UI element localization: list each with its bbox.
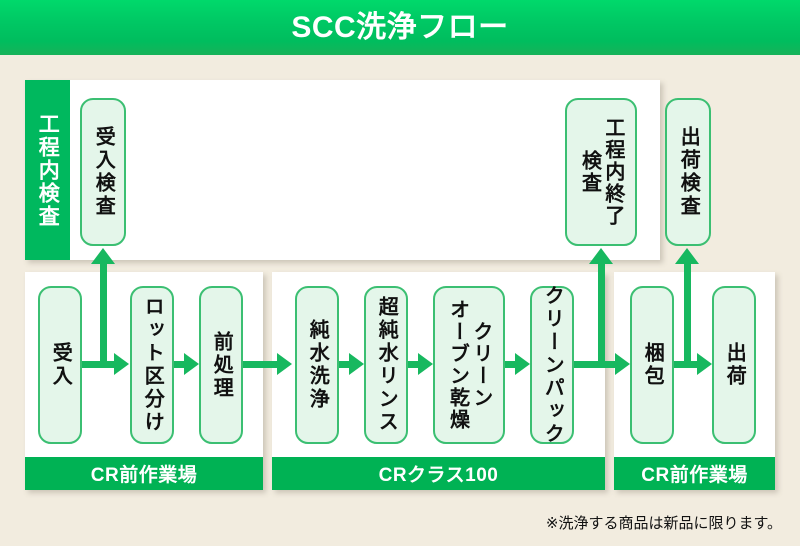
step-pretreatment-label: 前処理 [210,331,232,400]
step-clean-oven-drying-label-col1: クリーン [470,321,492,409]
area-footer-right: CR前作業場 [614,457,775,490]
step-ultrapure-water-rinse-label: 超純水リンス [375,296,397,434]
area-footer-middle-label: CRクラス100 [379,460,499,487]
arrowhead-shipping-inspection [675,248,699,264]
area-footer-middle: CRクラス100 [272,457,605,490]
in-process-final-inspection-label-col1: 工程内終了 [602,117,624,227]
step-pure-water-cleaning[interactable]: 純水洗浄 [295,286,339,444]
step-clean-pack[interactable]: クリーンパック [530,286,574,444]
shipping-inspection-label: 出荷検査 [677,126,699,218]
step-pretreatment[interactable]: 前処理 [199,286,243,444]
step-receiving[interactable]: 受入 [38,286,82,444]
step-lot-sorting[interactable]: ロット区分け [130,286,174,444]
step-packing-label: 梱包 [641,342,663,388]
area-footer-left: CR前作業場 [25,457,263,490]
footnote: ※洗浄する商品は新品に限ります。 [546,512,782,533]
step-clean-oven-drying[interactable]: クリーン オーブン乾燥 [433,286,505,444]
arrowhead-clean-oven-to-clean-pack [515,353,530,375]
riser-to-in-process-final-inspection [598,262,605,364]
step-shipping[interactable]: 出荷 [712,286,756,444]
inspection-panel-tab: 工程内検査 [25,80,70,260]
arrowhead-clean-pack-to-packing [615,353,630,375]
page-title: SCC洗浄フロー [291,13,508,43]
step-packing[interactable]: 梱包 [630,286,674,444]
step-receiving-label: 受入 [49,342,71,388]
incoming-inspection-box[interactable]: 受入検査 [80,98,126,246]
step-clean-pack-label: クリーンパック [541,285,563,446]
area-footer-left-label: CR前作業場 [91,460,197,487]
in-process-final-inspection-label-col2: 検査 [578,150,600,194]
arrowhead-packing-to-shipping [697,353,712,375]
arrowhead-receiving-to-lot-sorting [114,353,129,375]
riser-to-incoming-inspection [100,262,107,364]
in-process-final-inspection-box[interactable]: 工程内終了 検査 [565,98,637,246]
arrowhead-in-process-final-inspection [589,248,613,264]
step-ultrapure-water-rinse[interactable]: 超純水リンス [364,286,408,444]
connector-pretreatment-to-pure-water-cleaning [243,361,280,368]
step-pure-water-cleaning-label: 純水洗浄 [306,319,328,411]
arrowhead-pretreatment-to-pure-water-cleaning [277,353,292,375]
shipping-inspection-box[interactable]: 出荷検査 [665,98,711,246]
flow-diagram-root: SCC洗浄フロー 工程内検査 受入検査 工程内終了 検査 出荷検査 CR前作業場… [0,0,800,546]
step-lot-sorting-label: ロット区分け [141,296,163,434]
step-clean-oven-drying-label-col2: オーブン乾燥 [446,299,468,431]
step-shipping-label: 出荷 [723,342,745,388]
area-footer-right-label: CR前作業場 [641,460,747,487]
inspection-panel-tab-label: 工程内検査 [36,113,60,228]
incoming-inspection-label: 受入検査 [92,126,114,218]
arrowhead-incoming-inspection [91,248,115,264]
arrowhead-pure-water-to-ultrapure-rinse [349,353,364,375]
title-banner: SCC洗浄フロー [0,0,800,55]
riser-to-shipping-inspection [684,262,691,364]
arrowhead-ultrapure-rinse-to-clean-oven [418,353,433,375]
arrowhead-lot-sorting-to-pretreatment [184,353,199,375]
